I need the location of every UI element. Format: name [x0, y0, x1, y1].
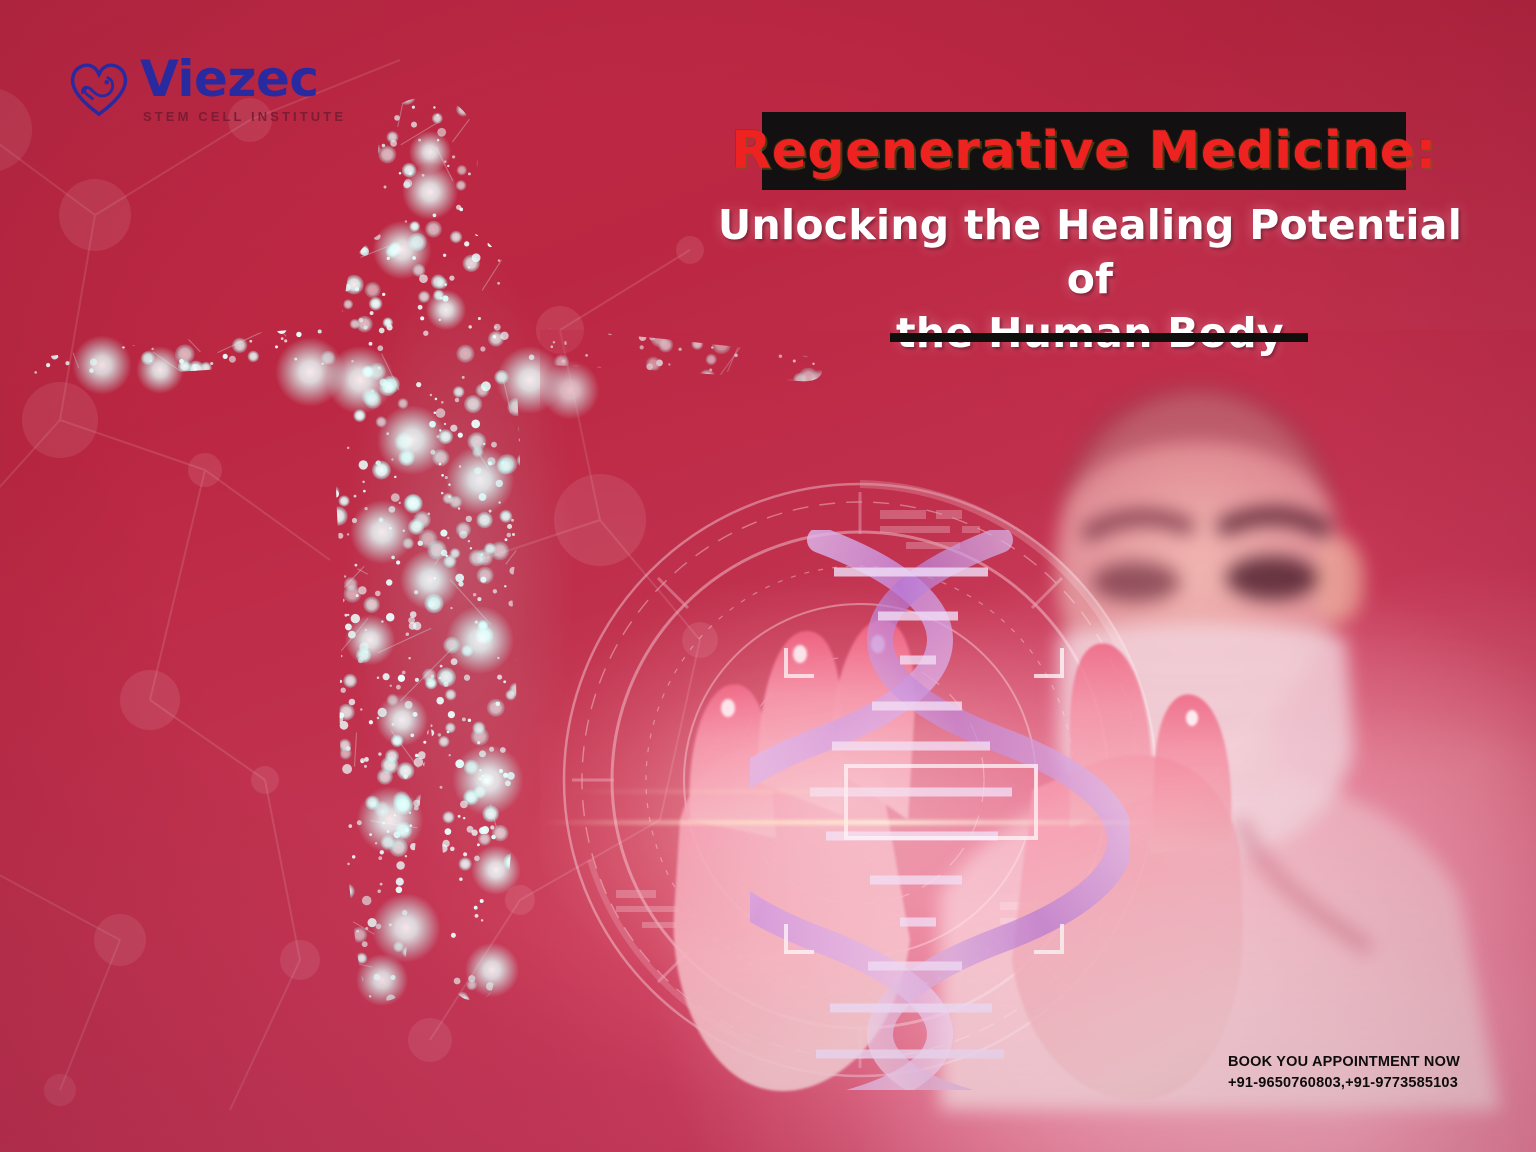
headline-underline-rule	[890, 333, 1308, 342]
phone-numbers[interactable]: +91-9650760803,+91-9773585103	[1228, 1073, 1528, 1094]
contact-block: BOOK YOU APPOINTMENT NOW +91-9650760803,…	[1228, 1052, 1528, 1094]
brand-logo[interactable]: Viezec STEM CELL INSTITUTE	[68, 54, 346, 124]
brand-tagline: STEM CELL INSTITUTE	[143, 109, 346, 124]
headline-subtitle-line1: Unlocking the Healing Potential of	[700, 198, 1480, 306]
dna-double-helix	[750, 530, 1130, 1090]
heart-embryo-icon	[68, 58, 130, 120]
brand-name: Viezec	[140, 54, 346, 104]
lens-flare-streak-secondary	[560, 790, 980, 793]
cta-text: BOOK YOU APPOINTMENT NOW	[1228, 1052, 1528, 1073]
headline-title: Regenerative Medicine:	[731, 121, 1437, 181]
masked-doctor-holding-dna-hologram	[540, 330, 1536, 1152]
poster-canvas: Viezec STEM CELL INSTITUTE Regenerative …	[0, 0, 1536, 1152]
headline-band: Regenerative Medicine:	[762, 112, 1406, 190]
lens-flare-streak	[540, 820, 1160, 825]
